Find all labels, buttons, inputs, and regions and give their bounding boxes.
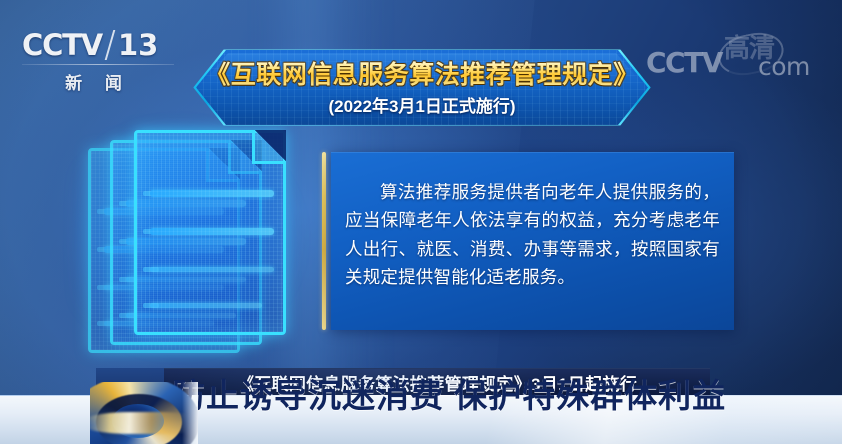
document-stack-graphic <box>88 128 308 378</box>
title-banner: 《互联网信息服务算法推荐管理规定》 (2022年3月1日正式施行) <box>196 50 648 125</box>
banner-subtitle-text: (2022年3月1日正式施行) <box>328 92 515 117</box>
lower-third-swirl-graphic <box>90 382 198 444</box>
panel-body: 算法推荐服务提供者向老年人提供服务的，应当保障老年人依法享有的权益，充分考虑老年… <box>331 152 734 330</box>
watermark-brand: CCTV <box>646 46 722 79</box>
lower-third-headline-text: 防止诱导沉迷消费 保护特殊群体利益 <box>172 368 726 417</box>
lower-third: 《互联网信息服务算法推荐管理规定》3月1日起施行 防止诱导沉迷消费 保护特殊群体… <box>0 368 842 444</box>
cctv-wordmark: CCTV <box>22 28 102 62</box>
regulation-quote-text: 算法推荐服务提供者向老年人提供服务的，应当保障老年人依法享有的权益，充分考虑老年… <box>345 178 720 291</box>
banner-title-text: 《互联网信息服务算法推荐管理规定》 <box>205 61 639 89</box>
document-page-front <box>134 130 286 335</box>
page-fold-corner-icon <box>252 130 286 164</box>
page-text-line <box>150 190 274 197</box>
channel-name-label: 新 闻 <box>22 69 174 94</box>
regulation-quote-panel: 算法推荐服务提供者向老年人提供服务的，应当保障老年人依法享有的权益，充分考虑老年… <box>322 152 734 330</box>
page-text-line <box>150 303 262 308</box>
swirl-fade-edge <box>182 382 198 444</box>
channel-logo-row: CCTV 13 <box>22 28 182 62</box>
logo-slash-divider <box>105 30 116 60</box>
watermark-domain: com <box>758 52 810 81</box>
broadcast-screen: CCTV 13 新 闻 高清 CCTV com <box>0 0 842 444</box>
page-text-line <box>150 267 274 272</box>
banner-content: 《互联网信息服务算法推荐管理规定》 (2022年3月1日正式施行) <box>196 50 648 125</box>
panel-gold-accent-bar <box>322 152 326 330</box>
page-text-line <box>150 228 274 235</box>
channel-number: 13 <box>118 28 158 62</box>
logo-underline <box>22 64 174 65</box>
channel-logo: CCTV 13 新 闻 <box>22 28 182 94</box>
cctv-com-watermark: 高清 CCTV com <box>646 30 828 86</box>
